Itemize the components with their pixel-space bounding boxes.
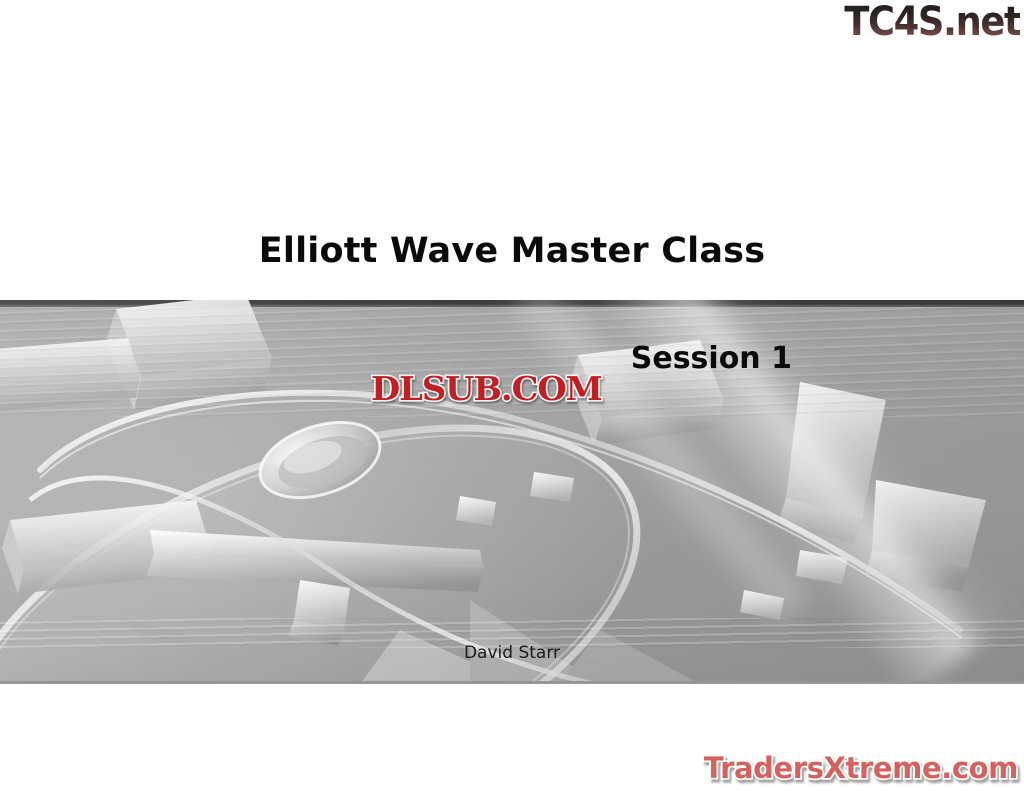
presenter-name: David Starr — [0, 643, 1024, 663]
tc4s-brand-logo: TC4S.net — [844, 2, 1020, 42]
page-title: Elliott Wave Master Class — [0, 231, 1024, 271]
dlsub-watermark: DLSUB.COM — [371, 372, 602, 405]
band-bottom-divider — [0, 681, 1024, 684]
hero-image-band: Session 1 David Starr — [0, 300, 1024, 684]
band-top-divider — [0, 300, 1024, 307]
tradersxtreme-watermark: TradersXtreme.com — [704, 754, 1018, 783]
